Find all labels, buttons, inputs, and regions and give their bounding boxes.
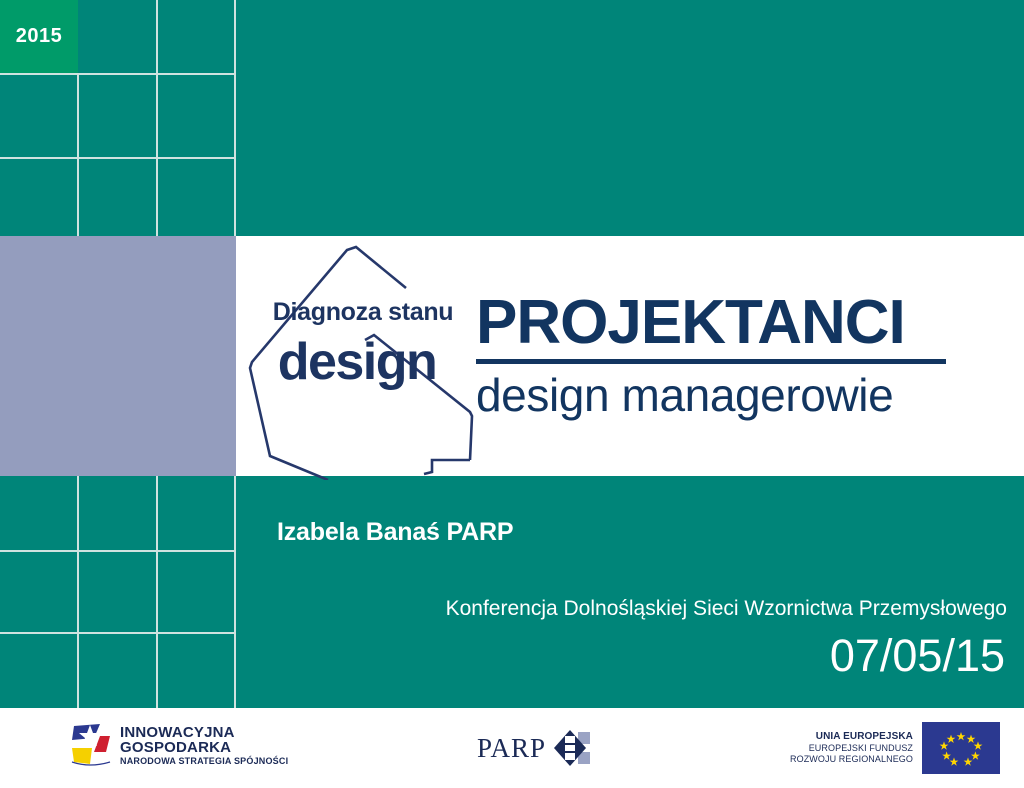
ig-line-2: GOSPODARKA — [120, 740, 288, 755]
title-underline-rule — [476, 359, 946, 364]
eu-line-2: EUROPEJSKI FUNDUSZ — [790, 743, 913, 754]
grid-line-vertical — [77, 476, 79, 708]
innowacyjna-gospodarka-logo: INNOWACYJNA GOSPODARKA NARODOWA STRATEGI… — [70, 722, 288, 768]
top-teal-band — [0, 0, 1024, 236]
ig-line-3: NARODOWA STRATEGIA SPÓJNOŚCI — [120, 757, 288, 766]
grid-line-vertical — [234, 476, 236, 708]
logo-line-big: design — [250, 336, 464, 388]
grid-line-horizontal — [0, 73, 236, 75]
grid-line-vertical — [156, 0, 158, 236]
european-union-logo: UNIA EUROPEJSKA EUROPEJSKI FUNDUSZ ROZWO… — [790, 722, 1000, 774]
slide-canvas: 2015 Diagnoza stanu design PROJEKTANCI d… — [0, 0, 1024, 788]
parp-diamond-icon — [552, 728, 594, 768]
eu-line-1: UNIA EUROPEJSKA — [790, 731, 913, 744]
eu-flag-icon — [922, 722, 1000, 774]
page-subtitle: design managerowie — [476, 370, 956, 421]
eu-wordmark: UNIA EUROPEJSKA EUROPEJSKI FUNDUSZ ROZWO… — [790, 731, 913, 766]
grid-line-horizontal — [0, 550, 236, 552]
logo-line-top: Diagnoza stanu — [258, 298, 468, 327]
ig-stars-icon — [70, 722, 112, 768]
parp-logo: PARP — [477, 728, 594, 768]
eu-line-3: ROZWOJU REGIONALNEGO — [790, 754, 913, 765]
ig-line-1: INNOWACYJNA — [120, 725, 288, 740]
parp-wordmark: PARP — [477, 733, 546, 764]
grid-line-horizontal — [0, 157, 236, 159]
speaker-name: Izabela Banaś PARP — [277, 518, 513, 547]
event-date: 07/05/15 — [830, 630, 1005, 682]
grid-line-vertical — [77, 73, 79, 236]
ig-wordmark: INNOWACYJNA GOSPODARKA NARODOWA STRATEGI… — [120, 725, 288, 766]
title-block: PROJEKTANCI design managerowie — [476, 290, 956, 421]
purple-accent-block — [0, 236, 236, 476]
conference-name: Konferencja Dolnośląskiej Sieci Wzornict… — [446, 597, 1007, 621]
year-badge: 2015 — [0, 0, 78, 73]
page-title: PROJEKTANCI — [476, 290, 956, 355]
grid-line-vertical — [234, 0, 236, 236]
grid-line-horizontal — [0, 632, 236, 634]
grid-line-vertical — [156, 476, 158, 708]
